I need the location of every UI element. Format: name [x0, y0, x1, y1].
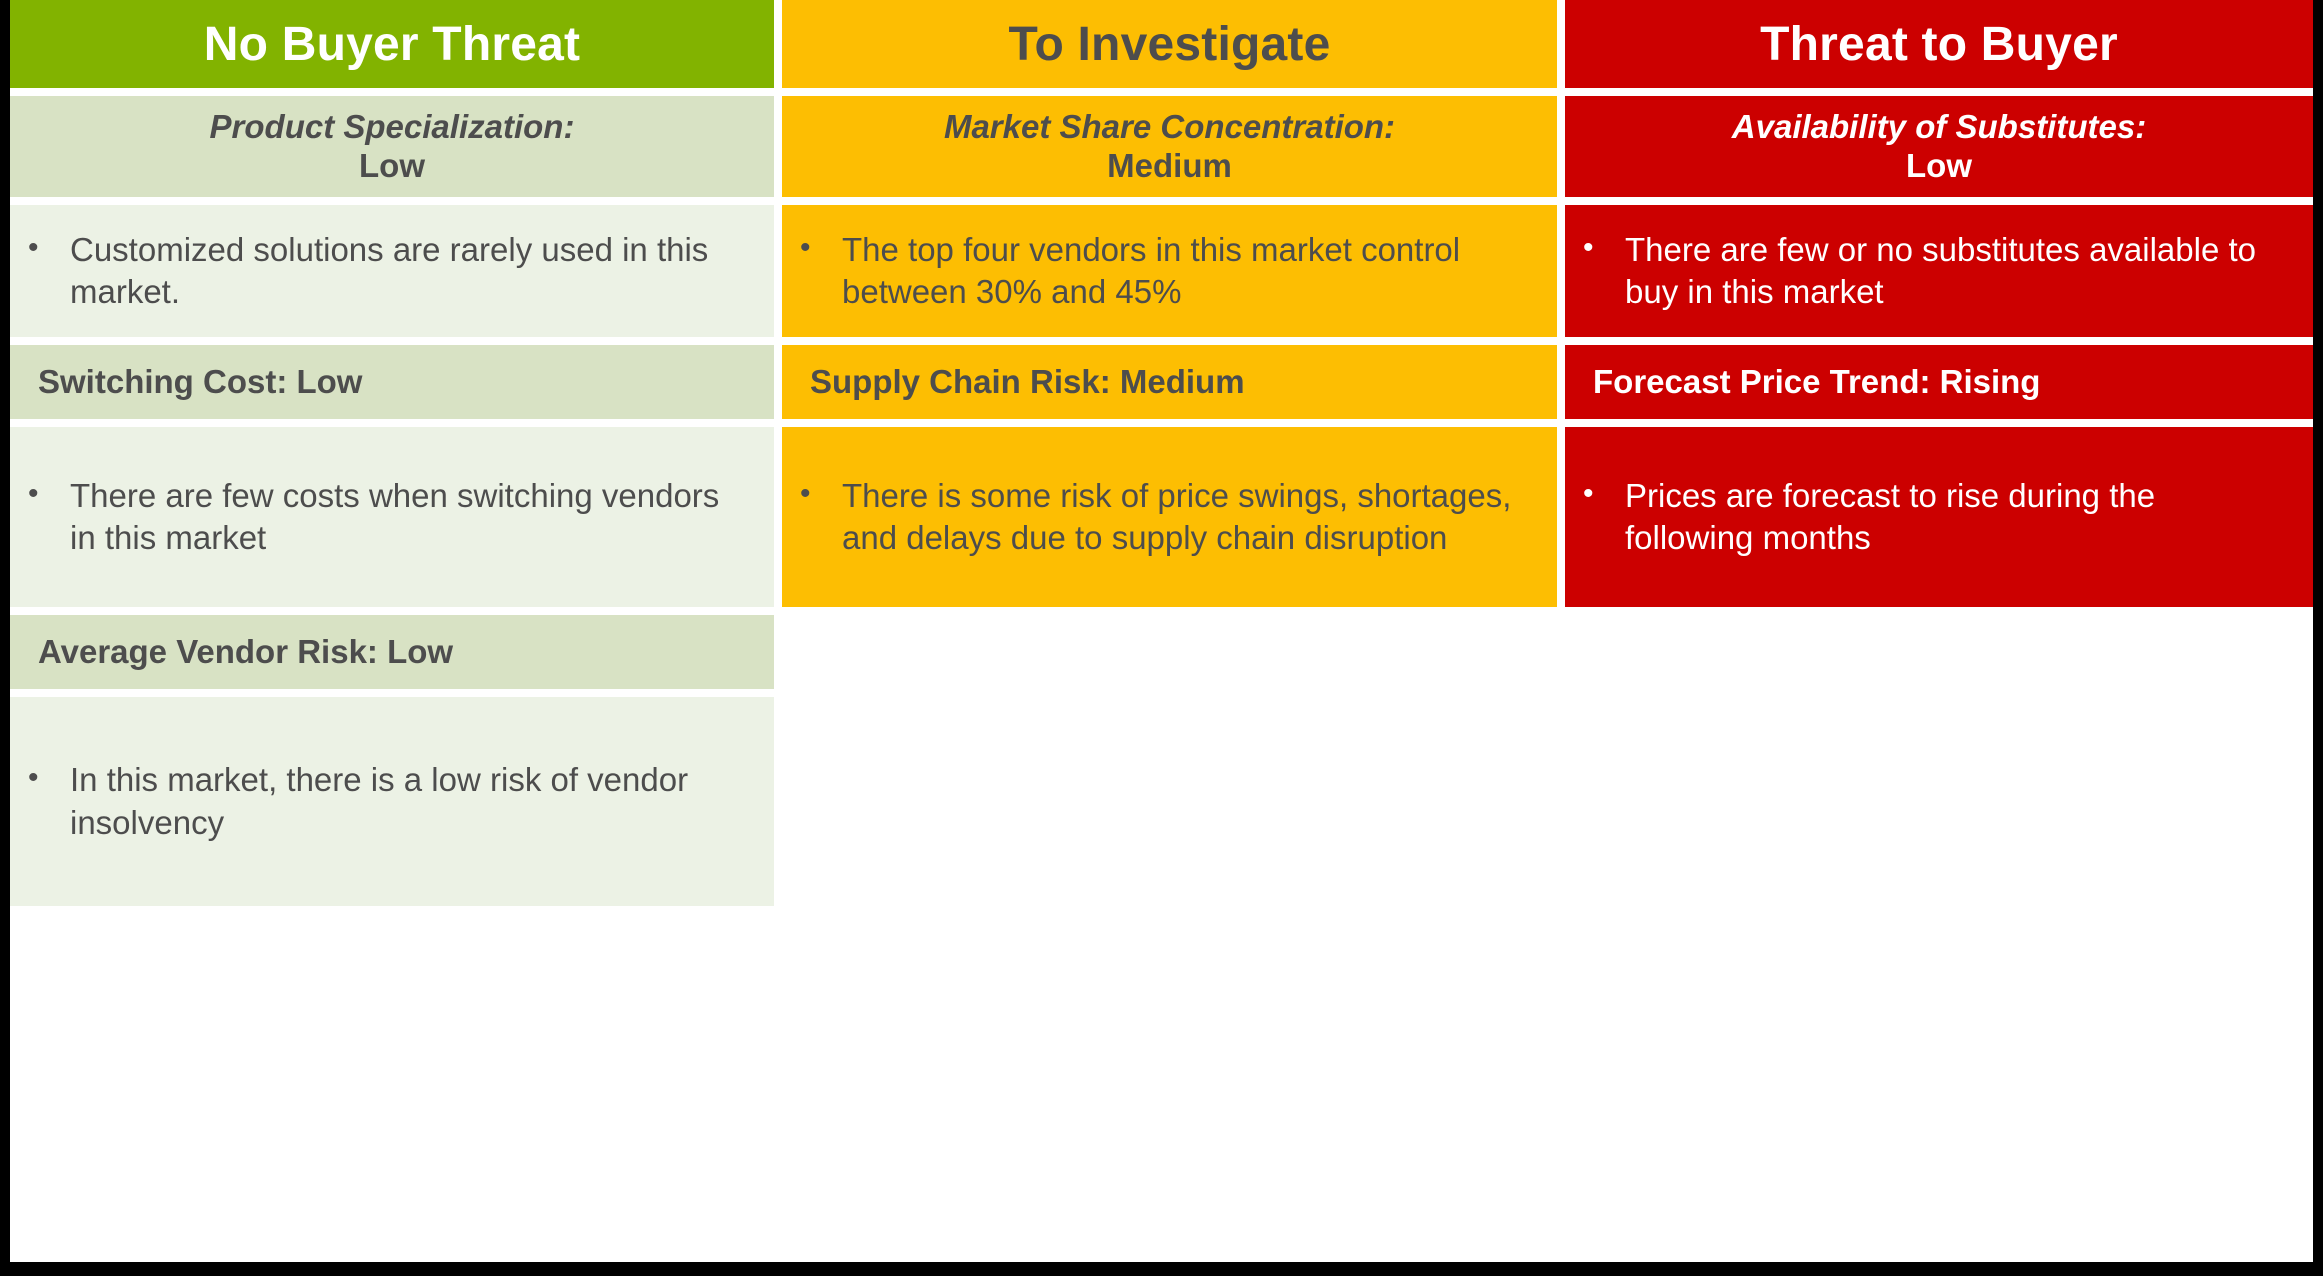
subheader-label: Forecast Price Trend: Rising	[1593, 363, 2040, 401]
body-switching-cost: • There are few costs when switching ven…	[10, 427, 774, 607]
subheader-switching-cost: Switching Cost: Low	[10, 345, 774, 419]
list-item: • Customized solutions are rarely used i…	[28, 229, 752, 313]
bullet-icon: •	[800, 229, 842, 267]
list-item: • The top four vendors in this market co…	[800, 229, 1535, 313]
bullet-icon: •	[28, 759, 70, 797]
list-item-text: There are few costs when switching vendo…	[70, 475, 752, 559]
body-forecast-price-trend: • Prices are forecast to rise during the…	[1565, 427, 2313, 607]
metric-value: Medium	[1107, 147, 1232, 186]
column-no-buyer-threat: No Buyer Threat Product Specialization: …	[10, 0, 774, 1262]
list-item-text: There are few or no substitutes availabl…	[1625, 229, 2291, 313]
metric-availability-of-substitutes: Availability of Substitutes: Low	[1565, 96, 2313, 197]
column-threat-to-buyer: Threat to Buyer Availability of Substitu…	[1565, 0, 2313, 1262]
body-product-specialization: • Customized solutions are rarely used i…	[10, 205, 774, 337]
list-item: • There are few or no substitutes availa…	[1583, 229, 2291, 313]
column-banner-to-investigate: To Investigate	[782, 0, 1557, 88]
list-item-text: Customized solutions are rarely used in …	[70, 229, 752, 313]
banner-label: Threat to Buyer	[1760, 17, 2118, 72]
banner-label: No Buyer Threat	[204, 17, 580, 72]
list-item: • There is some risk of price swings, sh…	[800, 475, 1535, 559]
body-average-vendor-risk: • In this market, there is a low risk of…	[10, 697, 774, 906]
list-item-text: In this market, there is a low risk of v…	[70, 759, 752, 843]
metric-label: Market Share Concentration:	[944, 108, 1395, 147]
column-empty-area	[1565, 615, 2313, 1262]
metric-market-share-concentration: Market Share Concentration: Medium	[782, 96, 1557, 197]
matrix-columns: No Buyer Threat Product Specialization: …	[10, 0, 2313, 1262]
banner-label: To Investigate	[1009, 17, 1331, 72]
column-banner-threat-to-buyer: Threat to Buyer	[1565, 0, 2313, 88]
list-item: • In this market, there is a low risk of…	[28, 759, 752, 843]
bullet-icon: •	[800, 475, 842, 513]
column-banner-no-buyer-threat: No Buyer Threat	[10, 0, 774, 88]
subheader-label: Supply Chain Risk: Medium	[810, 363, 1245, 401]
metric-label: Availability of Substitutes:	[1732, 108, 2146, 147]
list-item-text: The top four vendors in this market cont…	[842, 229, 1535, 313]
bullet-icon: •	[28, 229, 70, 267]
list-item-text: There is some risk of price swings, shor…	[842, 475, 1535, 559]
subheader-supply-chain-risk: Supply Chain Risk: Medium	[782, 345, 1557, 419]
list-item: • Prices are forecast to rise during the…	[1583, 475, 2291, 559]
subheader-average-vendor-risk: Average Vendor Risk: Low	[10, 615, 774, 689]
body-market-share-concentration: • The top four vendors in this market co…	[782, 205, 1557, 337]
bullet-icon: •	[28, 475, 70, 513]
subheader-label: Average Vendor Risk: Low	[38, 633, 453, 671]
metric-product-specialization: Product Specialization: Low	[10, 96, 774, 197]
list-item-text: Prices are forecast to rise during the f…	[1625, 475, 2291, 559]
subheader-label: Switching Cost: Low	[38, 363, 362, 401]
bullet-icon: •	[1583, 229, 1625, 267]
column-to-investigate: To Investigate Market Share Concentratio…	[782, 0, 1557, 1262]
body-availability-of-substitutes: • There are few or no substitutes availa…	[1565, 205, 2313, 337]
metric-label: Product Specialization:	[210, 108, 575, 147]
body-supply-chain-risk: • There is some risk of price swings, sh…	[782, 427, 1557, 607]
metric-value: Low	[359, 147, 425, 186]
bullet-icon: •	[1583, 475, 1625, 513]
column-empty-area	[782, 615, 1557, 1262]
buyer-threat-matrix: No Buyer Threat Product Specialization: …	[0, 0, 2323, 1276]
subheader-forecast-price-trend: Forecast Price Trend: Rising	[1565, 345, 2313, 419]
list-item: • There are few costs when switching ven…	[28, 475, 752, 559]
metric-value: Low	[1906, 147, 1972, 186]
